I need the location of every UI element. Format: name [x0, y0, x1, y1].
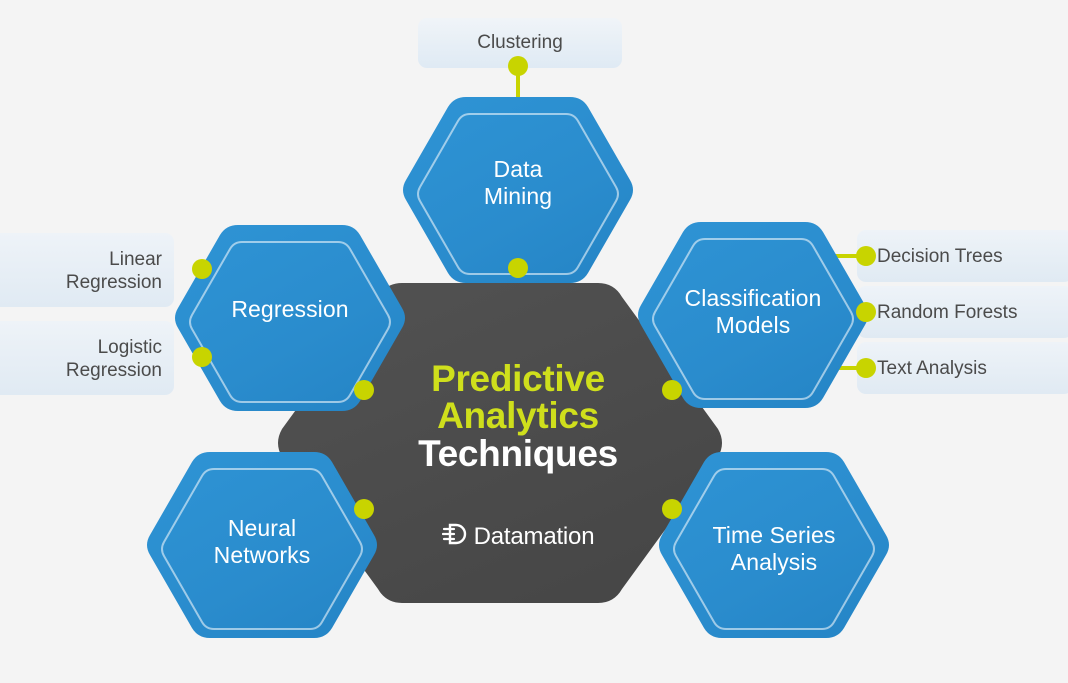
dot-decision-trees: [856, 246, 876, 266]
dot-logistic-regression: [192, 347, 212, 367]
center-title-line2: Analytics: [343, 397, 693, 434]
dot-random-forests: [856, 302, 876, 322]
center-title-line1: Predictive: [343, 360, 693, 397]
dot-center-time-series: [662, 499, 682, 519]
pill-label-clustering: Clustering: [418, 31, 622, 54]
pill-label-random-forests: Random Forests: [877, 301, 1067, 324]
dot-clustering: [508, 56, 528, 76]
dot-linear-regression: [192, 259, 212, 279]
datamation-d-logo-icon: [442, 522, 468, 551]
pill-label-decision-trees: Decision Trees: [877, 245, 1067, 268]
brand-lockup: Datamation: [343, 522, 693, 551]
center-title-line3: Techniques: [343, 435, 693, 472]
pill-label-text-analysis: Text Analysis: [877, 357, 1067, 380]
dot-center-data-mining: [508, 258, 528, 278]
pill-label-logistic-regression: Logistic Regression: [0, 336, 162, 382]
infographic-canvas: Predictive Analytics Techniques Datamati…: [0, 0, 1068, 683]
pill-label-linear-regression: Linear Regression: [0, 248, 162, 294]
hexagon-data-mining[interactable]: [403, 97, 633, 283]
dot-center-neural-networks: [354, 499, 374, 519]
dot-text-analysis: [856, 358, 876, 378]
brand-name: Datamation: [474, 523, 595, 551]
center-title: Predictive Analytics Techniques: [343, 360, 693, 472]
